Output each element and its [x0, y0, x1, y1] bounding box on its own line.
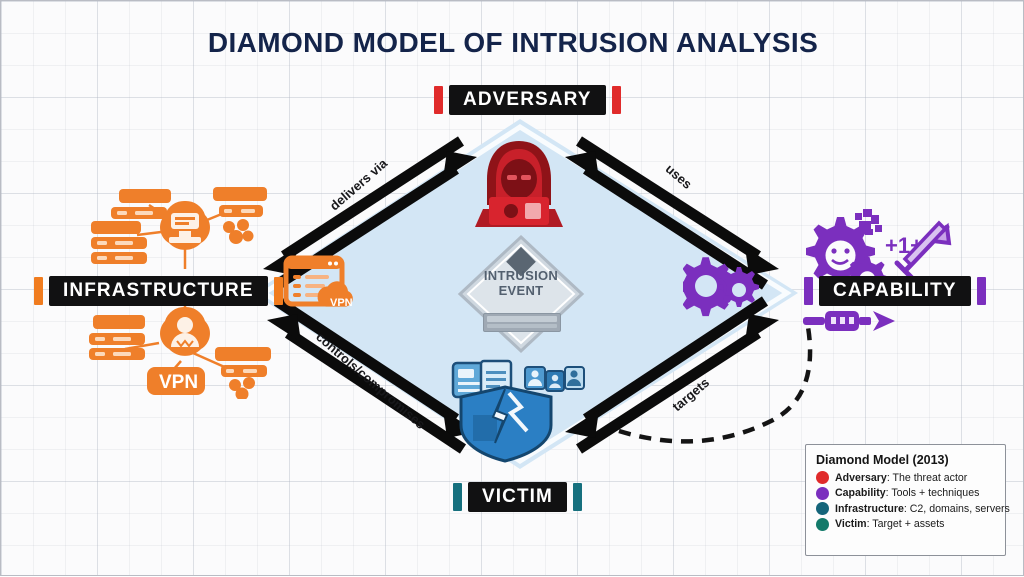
legend-title: Diamond Model (2013): [816, 453, 996, 467]
legend-item-capability: Capability: Tools + techniques: [816, 487, 996, 500]
intrusion-event-label: INTRUSIONEVENT: [456, 269, 586, 298]
legend-item-victim: Victim: Target + assets: [816, 518, 996, 531]
legend-text-adversary: Adversary: The threat actor: [835, 472, 967, 484]
domain-card: [215, 347, 271, 399]
svg-text:VPN: VPN: [159, 372, 198, 393]
gear-icon: [683, 249, 763, 328]
svg-text:VPN: VPN: [330, 297, 353, 309]
event-meter-icon: [483, 313, 561, 332]
domain-card: [213, 187, 267, 244]
cracked-shield-icon: [447, 359, 587, 468]
legend-dot-victim: [816, 518, 829, 531]
accent-bar-right: [977, 277, 986, 305]
node-label-capability[interactable]: CAPABILITY: [804, 276, 986, 306]
capability-label: CAPABILITY: [819, 276, 971, 306]
infrastructure-label: INFRASTRUCTURE: [49, 276, 268, 306]
legend-text-infrastructure: Infrastructure: C2, domains, servers: [835, 503, 1010, 515]
legend-item-infrastructure: Infrastructure: C2, domains, servers: [816, 502, 996, 515]
accent-bar-left: [34, 277, 43, 305]
user-node-icon: VPN: [89, 303, 281, 404]
browser-window-icon: VPN: [283, 252, 363, 327]
accent-bar-right: [274, 277, 283, 305]
diagram-canvas: DIAMOND MODEL OF INTRUSION ANALYSIS: [0, 0, 1024, 576]
adversary-label: ADVERSARY: [449, 85, 606, 115]
victim-label: VICTIM: [468, 482, 567, 512]
page-title: DIAMOND MODEL OF INTRUSION ANALYSIS: [1, 27, 1024, 59]
accent-bar-left: [453, 483, 462, 511]
server-network-icon: [89, 183, 271, 280]
host-card: [91, 221, 147, 264]
legend-dot-adversary: [816, 471, 829, 484]
accent-bar-right: [612, 86, 621, 114]
accent-bar-left: [804, 277, 813, 305]
intrusion-event-node: INTRUSIONEVENT: [456, 233, 586, 355]
node-label-victim[interactable]: VICTIM: [453, 482, 582, 512]
host-card: [89, 315, 145, 360]
node-label-adversary[interactable]: ADVERSARY: [434, 85, 621, 115]
legend-panel: Diamond Model (2013) Adversary: The thre…: [805, 444, 1006, 556]
hooded-hacker-icon: [467, 135, 571, 236]
legend-text-victim: Victim: Target + assets: [835, 518, 944, 530]
accent-bar-right: [573, 483, 582, 511]
legend-text-capability: Capability: Tools + techniques: [835, 487, 979, 499]
accent-bar-left: [434, 86, 443, 114]
legend-dot-capability: [816, 487, 829, 500]
node-label-infrastructure[interactable]: INFRASTRUCTURE: [34, 276, 283, 306]
legend-dot-infrastructure: [816, 502, 829, 515]
host-card: [111, 189, 171, 219]
legend-item-adversary: Adversary: The threat actor: [816, 471, 996, 484]
